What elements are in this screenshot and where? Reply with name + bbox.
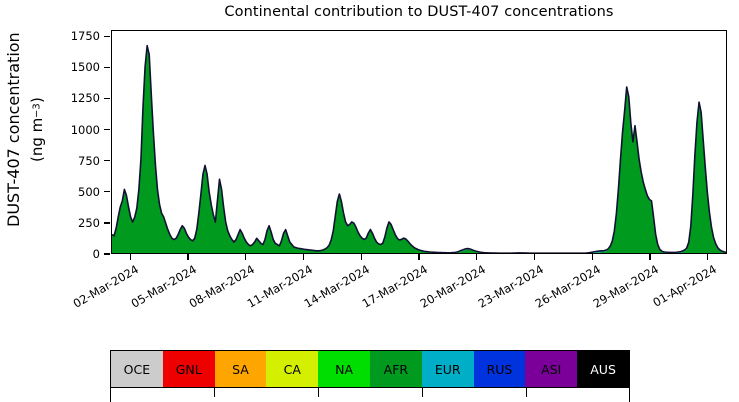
colorbar-tick bbox=[318, 388, 319, 397]
legend-cell-ca[interactable]: CA bbox=[266, 351, 318, 387]
y-tick-label: 750 bbox=[2, 154, 100, 168]
legend-cell-gnl[interactable]: GNL bbox=[163, 351, 215, 387]
area-series-afr bbox=[112, 47, 726, 253]
y-tick-label: 500 bbox=[2, 185, 100, 199]
colorbar-tick bbox=[422, 388, 423, 397]
legend-cell-aus[interactable]: AUS bbox=[577, 351, 629, 387]
plot-inner bbox=[112, 31, 726, 253]
legend-cell-rus[interactable]: RUS bbox=[474, 351, 526, 387]
y-tick-mark bbox=[104, 191, 110, 192]
legend-cell-oce[interactable]: OCE bbox=[111, 351, 163, 387]
legend-cell-na[interactable]: NA bbox=[318, 351, 370, 387]
y-tick-mark bbox=[104, 160, 110, 161]
legend-cell-eur[interactable]: EUR bbox=[422, 351, 474, 387]
y-tick-mark bbox=[104, 98, 110, 99]
legend-cell-afr[interactable]: AFR bbox=[370, 351, 422, 387]
y-tick-mark bbox=[104, 253, 110, 254]
x-tick-mark bbox=[245, 254, 246, 260]
x-tick-mark bbox=[534, 254, 535, 260]
legend-cell-asi[interactable]: ASI bbox=[525, 351, 577, 387]
y-tick-label: 0 bbox=[2, 247, 100, 261]
y-tick-label: 1750 bbox=[2, 29, 100, 43]
legend-cell-sa[interactable]: SA bbox=[215, 351, 267, 387]
x-tick-mark bbox=[187, 254, 188, 260]
x-tick-mark bbox=[303, 254, 304, 260]
plot-area bbox=[111, 30, 727, 254]
y-tick-label: 1500 bbox=[2, 60, 100, 74]
colorbar-ticks bbox=[110, 388, 630, 398]
y-tick-mark bbox=[104, 36, 110, 37]
x-tick-mark bbox=[592, 254, 593, 260]
continent-colorbar[interactable]: OCEGNLSACANAAFREURRUSASIAUS bbox=[110, 350, 630, 388]
y-tick-label: 250 bbox=[2, 216, 100, 230]
y-tick-mark bbox=[104, 129, 110, 130]
x-tick-mark bbox=[418, 254, 419, 260]
y-tick-label: 1000 bbox=[2, 123, 100, 137]
chart-page: Continental contribution to DUST-407 con… bbox=[0, 0, 739, 402]
y-tick-mark bbox=[104, 222, 110, 223]
colorbar-tick bbox=[526, 388, 527, 397]
y-tick-label: 1250 bbox=[2, 91, 100, 105]
x-tick-mark bbox=[130, 254, 131, 260]
colorbar-tick bbox=[214, 388, 215, 397]
x-tick-mark bbox=[649, 254, 650, 260]
x-tick-mark bbox=[361, 254, 362, 260]
y-axis-units-exponent: −3 bbox=[32, 103, 43, 118]
y-tick-mark bbox=[104, 67, 110, 68]
stacked-area-series bbox=[112, 31, 726, 253]
x-tick-mark bbox=[476, 254, 477, 260]
x-tick-mark bbox=[707, 254, 708, 260]
chart-title: Continental contribution to DUST-407 con… bbox=[111, 4, 727, 20]
